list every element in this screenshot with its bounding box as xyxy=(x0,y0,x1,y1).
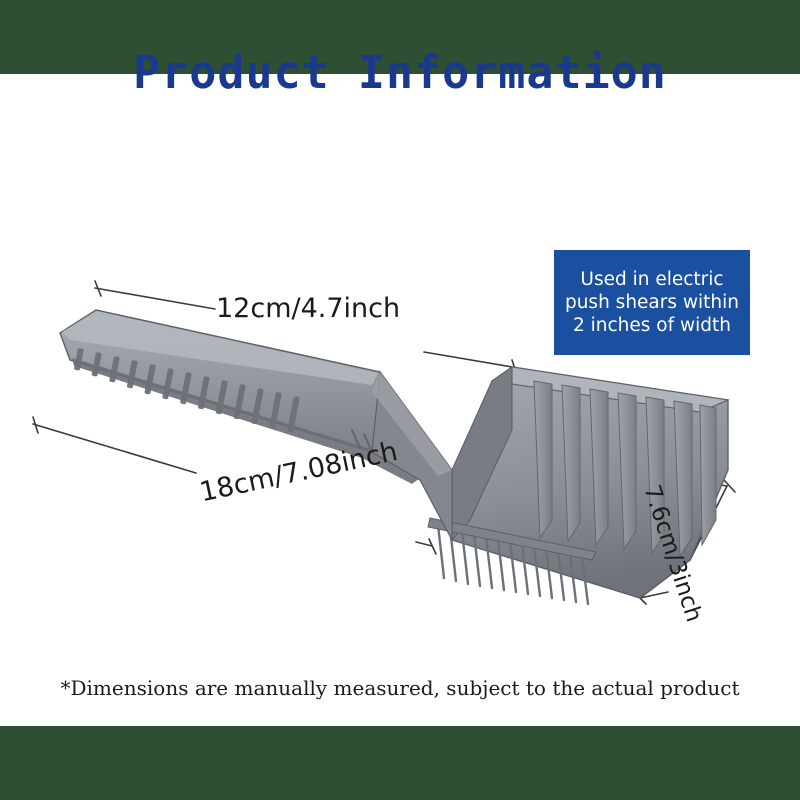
callout-box: Used in electric push shears within 2 in… xyxy=(554,250,750,355)
comb-handle xyxy=(60,310,452,540)
dimension-label-length-upper: 12cm/4.7inch xyxy=(216,293,400,324)
footnote-text: *Dimensions are manually measured, subje… xyxy=(0,676,800,700)
callout-text: Used in electric push shears within 2 in… xyxy=(560,268,744,337)
product-information-page: Product Information xyxy=(0,0,800,800)
